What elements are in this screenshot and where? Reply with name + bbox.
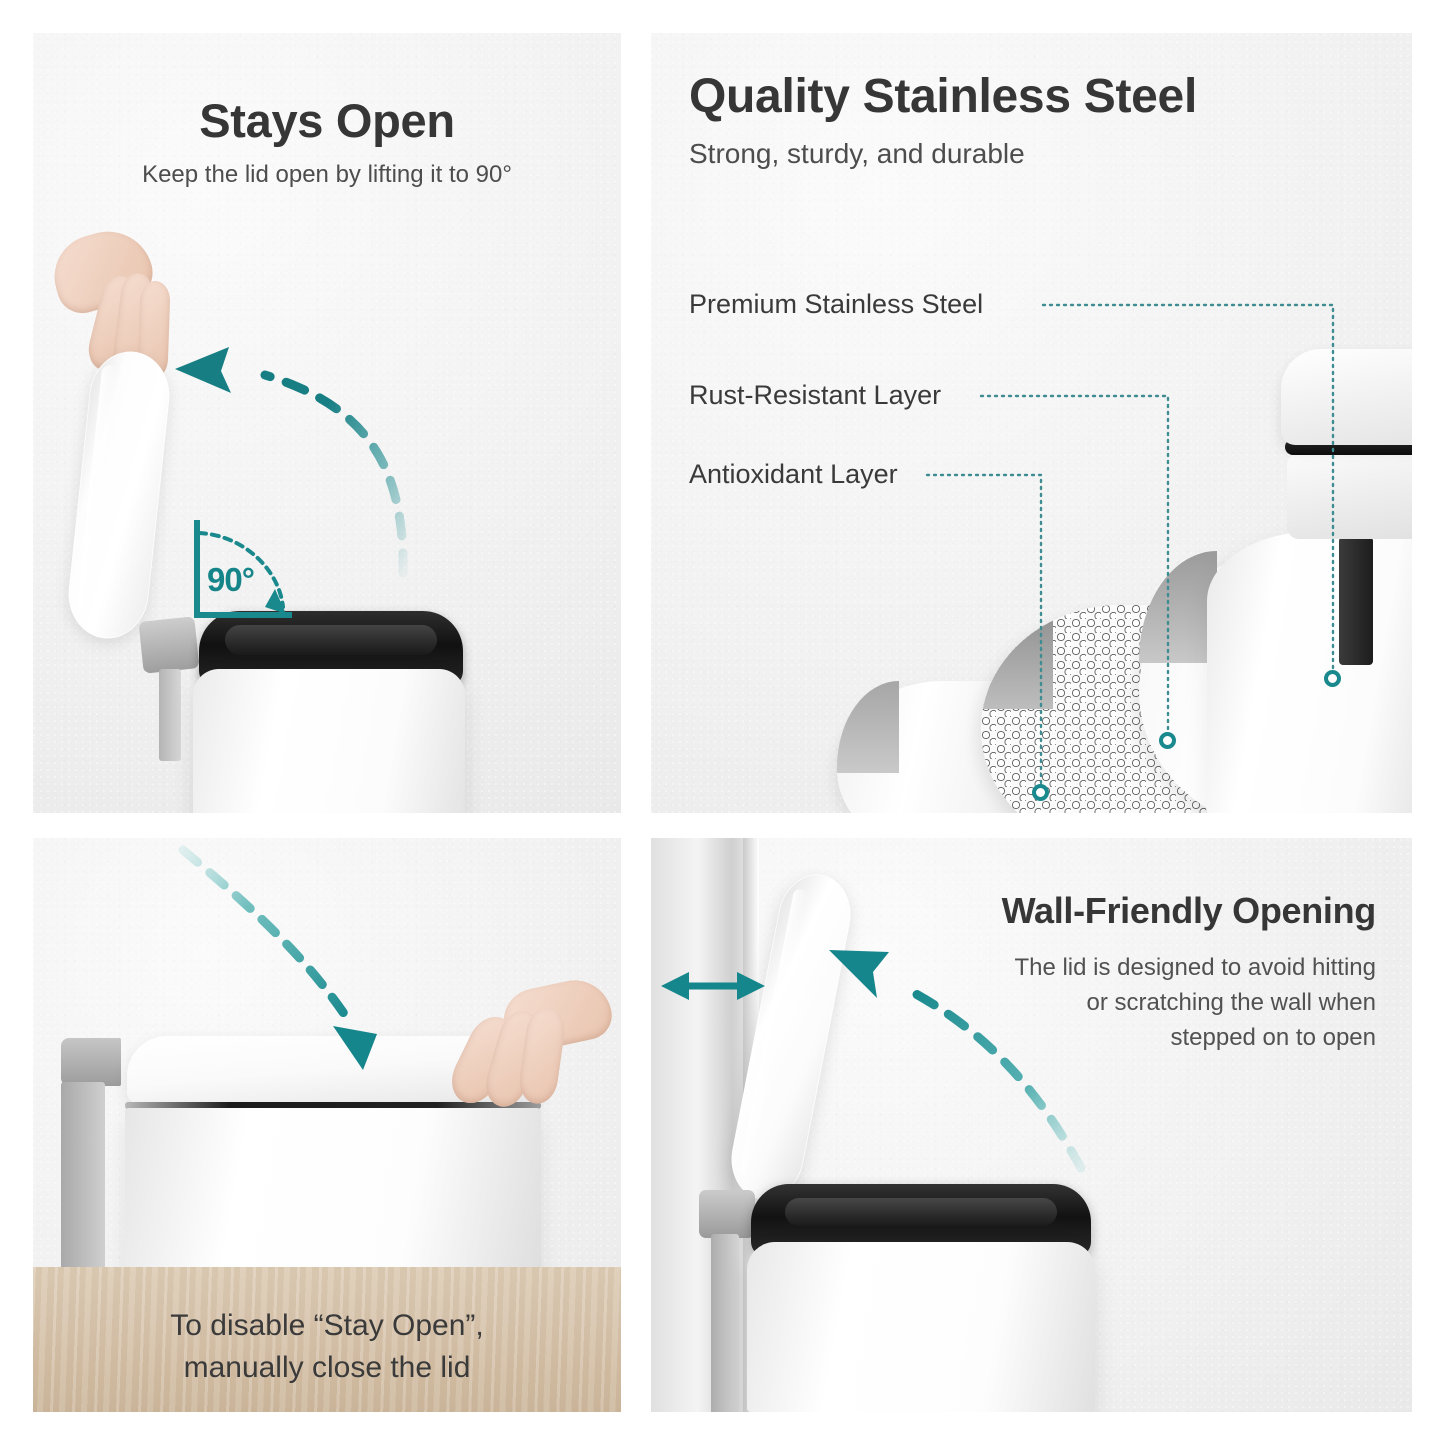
panel-stays-open: Stays Open Keep the lid open by lifting … — [33, 33, 621, 813]
callout-label-rust-resistant: Rust-Resistant Layer — [689, 380, 941, 411]
infographic-sheet: Stays Open Keep the lid open by lifting … — [0, 0, 1445, 1445]
callout-label-antioxidant: Antioxidant Layer — [689, 459, 898, 490]
panel-quality-stainless-steel: Quality Stainless Steel Strong, sturdy, … — [651, 33, 1412, 813]
caption-line-2: manually close the lid — [33, 1347, 621, 1390]
angle-indicator: 90° — [185, 519, 295, 629]
caption-line-1: To disable “Stay Open”, — [33, 1305, 621, 1348]
marker-antioxidant — [1032, 784, 1049, 801]
disable-stay-open-caption: To disable “Stay Open”, manually close t… — [33, 1305, 621, 1390]
double-headed-arrow-icon — [661, 972, 765, 1000]
callout-label-premium-steel: Premium Stainless Steel — [689, 289, 983, 320]
marker-rust-resistant — [1159, 732, 1176, 749]
marker-premium-steel — [1324, 670, 1341, 687]
wall-annotations — [651, 838, 1412, 1412]
panel-disable-stay-open: To disable “Stay Open”, manually close t… — [33, 838, 621, 1412]
curved-dashed-arrow-icon — [33, 33, 621, 813]
callout-leader-lines — [651, 33, 1412, 813]
panel-wall-friendly-opening: Wall-Friendly Opening The lid is designe… — [651, 838, 1412, 1412]
angle-value: 90° — [207, 561, 254, 599]
